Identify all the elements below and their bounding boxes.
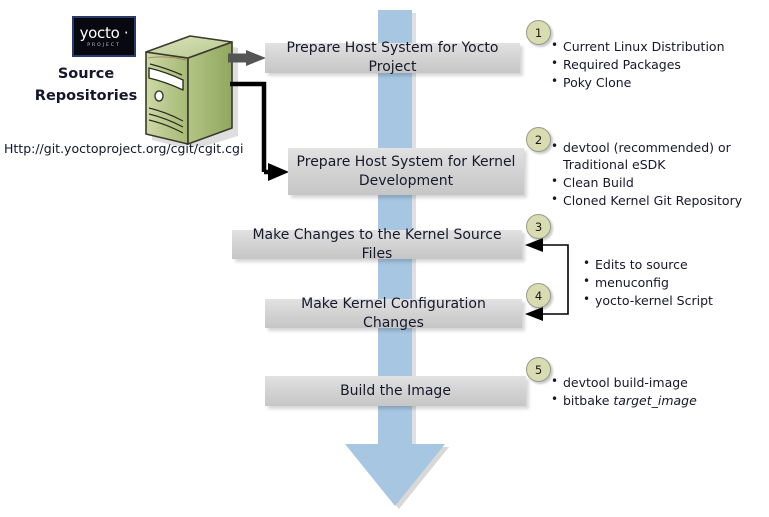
list-item: Cloned Kernel Git Repository bbox=[551, 192, 756, 209]
source-repositories-url: Http://git.yoctoproject.org/cgit/cgit.cg… bbox=[4, 141, 243, 156]
step-badge-3: 3 bbox=[526, 214, 551, 239]
process-box-prepare-host-kernel[interactable]: Prepare Host System for Kernel Developme… bbox=[288, 148, 524, 195]
process-box-build-image[interactable]: Build the Image bbox=[265, 376, 526, 406]
step-badge-4: 4 bbox=[526, 283, 551, 308]
list-item: yocto-kernel Script bbox=[583, 292, 769, 309]
notes-list-step5: devtool build-image bitbake target_image bbox=[551, 374, 756, 410]
diagram-canvas: yocto · PROJECT bbox=[0, 0, 769, 517]
list-item: Required Packages bbox=[551, 56, 761, 73]
list-item: menuconfig bbox=[583, 274, 769, 291]
process-box-make-config-changes[interactable]: Make Kernel Configuration Changes bbox=[265, 299, 522, 328]
list-item: bitbake target_image bbox=[551, 392, 756, 409]
source-repositories-label: Source Repositories bbox=[28, 63, 144, 107]
source-label-line2: Repositories bbox=[28, 85, 144, 107]
process-box-prepare-host-yocto[interactable]: Prepare Host System for Yocto Project bbox=[265, 43, 520, 73]
list-item: Poky Clone bbox=[551, 74, 761, 91]
notes-list-step1: Current Linux Distribution Required Pack… bbox=[551, 38, 761, 92]
step-badge-5: 5 bbox=[526, 357, 551, 382]
source-label-line1: Source bbox=[28, 63, 144, 85]
step-badge-1: 1 bbox=[526, 20, 551, 45]
list-item: devtool build-image bbox=[551, 374, 756, 391]
flow-arrow-head bbox=[345, 444, 445, 506]
notes-list-step2: devtool (recommended) or Traditional eSD… bbox=[551, 139, 756, 210]
connector-notes-to-box3-box4 bbox=[525, 238, 568, 321]
list-item: Edits to source bbox=[583, 256, 769, 273]
logo-main-text: yocto · bbox=[80, 26, 129, 41]
list-item: Current Linux Distribution bbox=[551, 38, 761, 55]
server-tower-icon bbox=[136, 28, 240, 146]
step-badge-2: 2 bbox=[526, 127, 551, 152]
bitbake-command: bitbake bbox=[563, 393, 613, 408]
yocto-project-logo: yocto · PROJECT bbox=[72, 16, 136, 57]
logo-sub-text: PROJECT bbox=[87, 43, 120, 48]
list-item: Clean Build bbox=[551, 174, 756, 191]
target-image-variable: target_image bbox=[613, 393, 696, 408]
process-box-make-changes-source[interactable]: Make Changes to the Kernel Source Files bbox=[232, 230, 522, 259]
list-item: devtool (recommended) or Traditional eSD… bbox=[551, 139, 756, 173]
notes-list-step3-step4: Edits to source menuconfig yocto-kernel … bbox=[583, 256, 769, 310]
